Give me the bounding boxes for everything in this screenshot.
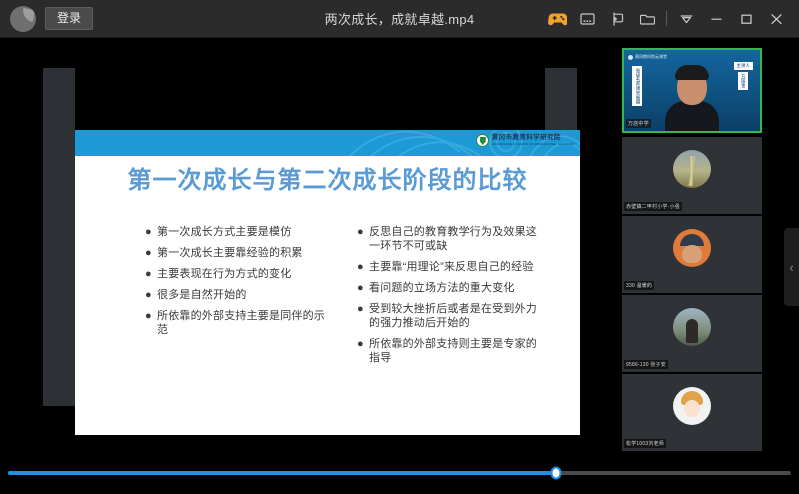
slide-bullet: ●反思自己的教育教学行为及效果这一环节不可或缺 (357, 225, 547, 253)
slide-title: 第一次成长与第二次成长阶段的比较 (75, 160, 580, 195)
broadcast-channel-watermark: 黄冈教科院云课堂 (628, 54, 667, 60)
participant-avatar (673, 387, 711, 425)
close-icon[interactable] (761, 4, 791, 34)
title-bar: 登录 两次成长，成就卓越.mp4 (0, 0, 799, 38)
slide-body: ●第一次成长方式主要是模仿●第一次成长主要靠经验的积累●主要表现在行为方式的变化… (145, 225, 565, 372)
tile-name-label: 9586-130 张子安 (624, 360, 668, 369)
player-transport-bar (0, 456, 799, 494)
bullet-dot-icon: ● (145, 225, 157, 239)
participant-tile[interactable]: 赤壁镇二甲村小学·小强 (622, 137, 762, 214)
bullet-dot-icon: ● (357, 302, 369, 330)
slide-bullet: ●所依靠的外部支持则主要是专家的指导 (357, 337, 547, 365)
tile-name-label: 330 温暖的 (624, 281, 654, 290)
login-button[interactable]: 登录 (45, 7, 93, 30)
participant-tile[interactable]: 9586-130 张子安 (622, 295, 762, 372)
seek-bar-progress (8, 471, 556, 475)
maximize-icon[interactable] (731, 4, 761, 34)
participant-avatar (673, 308, 711, 346)
collapse-rail-chevron-left-icon[interactable]: ‹ (784, 228, 799, 306)
bullet-dot-icon: ● (357, 225, 369, 253)
chevron-left-glyph: ‹ (789, 261, 793, 274)
slide-bullet-text: 主要表现在行为方式的变化 (157, 267, 291, 281)
tile-name-label: 万店中学 (626, 119, 651, 128)
bullet-dot-icon: ● (145, 309, 157, 337)
bullet-dot-icon: ● (357, 337, 369, 365)
gamepad-icon[interactable] (542, 4, 572, 34)
slide-bullet-text: 第一次成长主要靠经验的积累 (157, 246, 303, 260)
slide-bullet: ●第一次成长方式主要是模仿 (145, 225, 335, 239)
bullet-dot-icon: ● (145, 288, 157, 302)
slide-bullet-text: 很多是自然开始的 (157, 288, 247, 302)
channel-logo-icon (628, 55, 633, 60)
slide-bullet-text: 反思自己的教育教学行为及效果这一环节不可或缺 (369, 225, 547, 253)
slide-bullet: ●看问题的立场方法的重大变化 (357, 281, 547, 295)
slide-bullet-text: 所依靠的外部支持主要是同伴的示范 (157, 309, 335, 337)
participant-avatar (673, 229, 711, 267)
speaker-banner-left: 省级名师课堂展播 (632, 66, 642, 106)
presentation-slide: 黄冈市教育科学研究院 HUANGGANG ACADEMY OF EDUCATIO… (75, 130, 580, 435)
bullet-dot-icon: ● (145, 246, 157, 260)
participant-tile[interactable]: 330 温暖的 (622, 216, 762, 293)
slide-column-right: ●反思自己的教育教学行为及效果这一环节不可或缺●主要靠“用理论”来反思自己的经验… (357, 225, 547, 372)
speaker-banner-right: 主讲人 方国金 (734, 62, 754, 95)
tile-name-label: 赤壁镇二甲村小学·小强 (624, 202, 682, 211)
participant-tile[interactable]: 松学1003刘老师 (622, 374, 762, 451)
letterbox-bar-left (43, 68, 75, 406)
slide-bullet: ●所依靠的外部支持主要是同伴的示范 (145, 309, 335, 337)
chevron-down-icon[interactable] (671, 4, 701, 34)
slide-bullet-text: 看问题的立场方法的重大变化 (369, 281, 515, 295)
avatar[interactable] (10, 6, 36, 32)
minimize-icon[interactable] (701, 4, 731, 34)
slide-bullet: ●很多是自然开始的 (145, 288, 335, 302)
institution-name-cn: 黄冈市教育科学研究院 (492, 135, 574, 142)
tile-name-label: 松学1003刘老师 (624, 439, 666, 448)
institution-logo: 黄冈市教育科学研究院 HUANGGANG ACADEMY OF EDUCATIO… (476, 134, 574, 147)
window-controls (542, 4, 799, 34)
pin-icon[interactable] (602, 4, 632, 34)
institution-emblem-icon (476, 134, 489, 147)
seek-bar-track[interactable] (8, 471, 791, 475)
slide-bullet: ●受到较大挫折后或者是在受到外力的强力推动后开始的 (357, 302, 547, 330)
participant-rail: 黄冈教科院云课堂 省级名师课堂展播 主讲人 方国金 万店中学 赤壁镇二甲村小学·… (610, 38, 799, 456)
speaker-person-name: 方国金 (738, 72, 748, 90)
active-speaker-tile[interactable]: 黄冈教科院云课堂 省级名师课堂展播 主讲人 方国金 万店中学 (622, 48, 762, 133)
slide-bullet-text: 受到较大挫折后或者是在受到外力的强力推动后开始的 (369, 302, 547, 330)
slide-bullet: ●主要表现在行为方式的变化 (145, 267, 335, 281)
bullet-dot-icon: ● (145, 267, 157, 281)
institution-name-en: HUANGGANG ACADEMY OF EDUCATIONAL SCIENCE… (492, 143, 574, 146)
controls-divider (666, 11, 667, 26)
slide-bullet-text: 所依靠的外部支持则主要是专家的指导 (369, 337, 547, 365)
folder-icon[interactable] (632, 4, 662, 34)
bullet-dot-icon: ● (357, 260, 369, 274)
slide-bullet-text: 主要靠“用理论”来反思自己的经验 (369, 260, 534, 274)
slide-bullet: ●主要靠“用理论”来反思自己的经验 (357, 260, 547, 274)
speaker-role-label: 主讲人 (734, 62, 754, 70)
speaker-figure (665, 65, 719, 131)
slide-bullet-text: 第一次成长方式主要是模仿 (157, 225, 291, 239)
seek-bar-thumb[interactable] (551, 467, 562, 480)
bullet-dot-icon: ● (357, 281, 369, 295)
participant-avatar (673, 150, 711, 188)
slide-column-left: ●第一次成长方式主要是模仿●第一次成长主要靠经验的积累●主要表现在行为方式的变化… (145, 225, 335, 372)
screenshot-icon[interactable] (572, 4, 602, 34)
video-player-window: 潜江市教育局 登录 两次成长，成就卓越.mp4 (0, 0, 799, 494)
slide-bullet: ●第一次成长主要靠经验的积累 (145, 246, 335, 260)
shared-screen-stage[interactable]: 黄冈市教育科学研究院 HUANGGANG ACADEMY OF EDUCATIO… (0, 38, 610, 456)
